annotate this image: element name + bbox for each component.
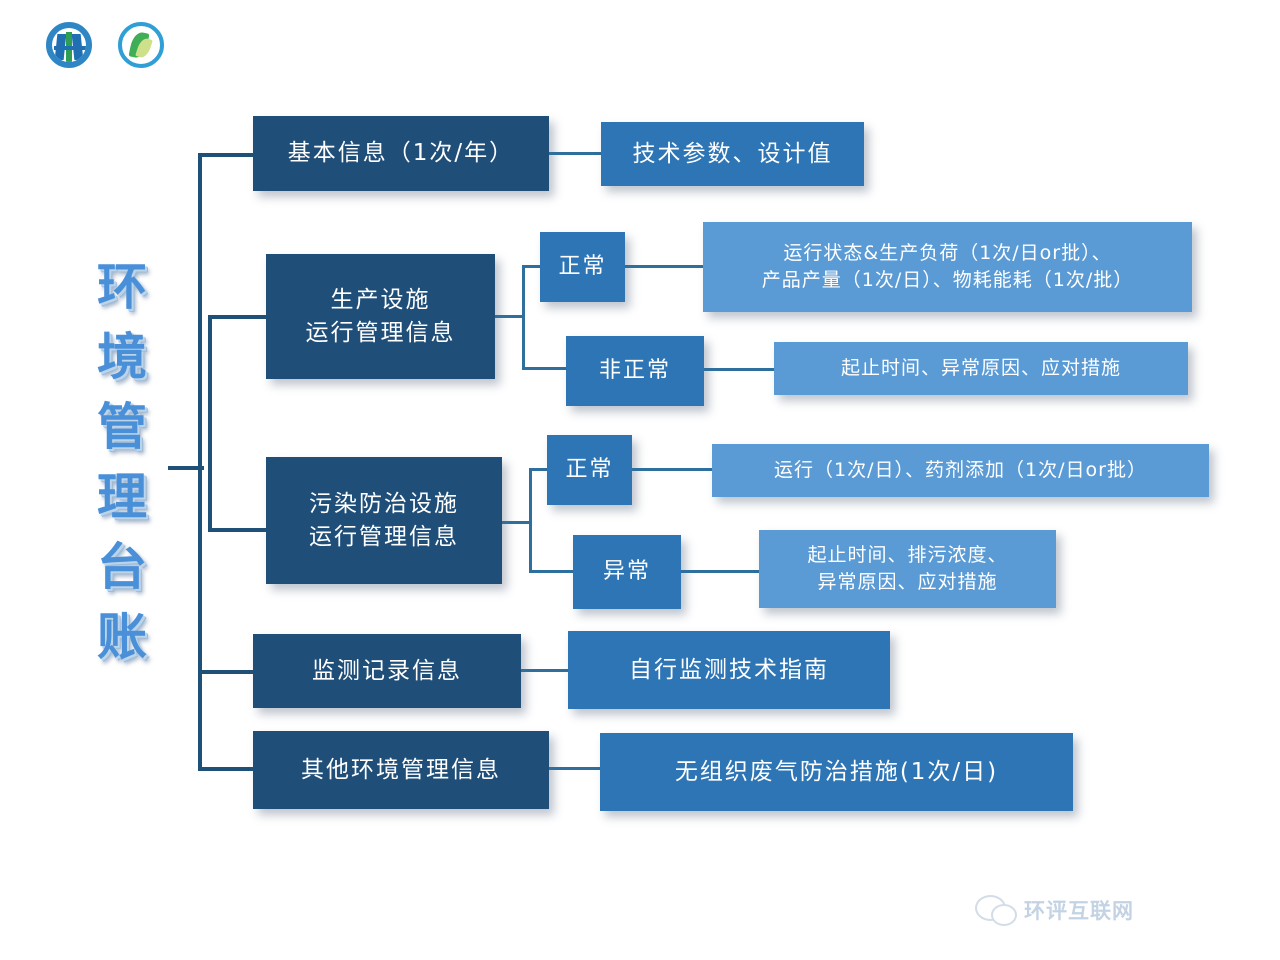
connector-branch-monitor — [198, 670, 258, 674]
connector-pollution-vsplit — [529, 468, 532, 573]
title-char-0: 环 — [97, 252, 147, 322]
connector-production-vsplit — [522, 265, 525, 370]
category-box-production[interactable]: 生产设施 运行管理信息 — [266, 254, 495, 379]
connector-pollution-normal-to-detail — [632, 468, 714, 471]
title-char-5: 账 — [97, 602, 147, 672]
detail-box-other-0[interactable]: 无组织废气防治措施(1次/日) — [600, 733, 1073, 811]
detail-box-pollution-normal[interactable]: 运行（1次/日）、药剂添加（1次/日or批） — [712, 444, 1209, 497]
connector-branch-pollution-riser — [208, 466, 212, 532]
connector-production-to-abnormal — [522, 367, 566, 370]
detail-line-1: 异常原因、应对措施 — [817, 569, 997, 596]
connector-pollution-to-abnormal — [529, 570, 573, 573]
detail-line-0: 运行状态&生产负荷（1次/日or批）、 — [783, 240, 1111, 267]
connector-other-to-detail — [549, 767, 601, 770]
connector-branch-pollution — [208, 528, 268, 532]
connector-branch-production — [208, 315, 268, 319]
connector-production-abnormal-to-detail — [704, 368, 776, 371]
category-box-other[interactable]: 其他环境管理信息 — [253, 731, 549, 809]
state-box-production-abnormal[interactable]: 非正常 — [566, 336, 704, 406]
connector-production-to-normal — [522, 265, 540, 268]
detail-line-1: 产品产量（1次/日）、物耗能耗（1次/批） — [762, 267, 1133, 294]
category-box-pollution[interactable]: 污染防治设施 运行管理信息 — [266, 457, 502, 584]
connector-pollution-out — [502, 521, 532, 524]
connector-pollution-to-normal — [529, 468, 547, 471]
category-line-1: 运行管理信息 — [309, 521, 459, 554]
diagram-canvas: 环 境 管 理 台 账 基本信息（1次/年） 技术参数、设计值 生产设施 运行管… — [0, 0, 1280, 960]
title-char-3: 理 — [97, 462, 147, 532]
connector-production-out — [495, 315, 525, 318]
state-box-production-normal[interactable]: 正常 — [540, 232, 625, 302]
title-char-2: 管 — [97, 392, 147, 462]
title-char-1: 境 — [97, 322, 147, 392]
category-box-monitor[interactable]: 监测记录信息 — [253, 634, 521, 708]
detail-box-basic-0[interactable]: 技术参数、设计值 — [601, 122, 864, 186]
category-box-basic[interactable]: 基本信息（1次/年） — [253, 116, 549, 191]
detail-box-production-normal[interactable]: 运行状态&生产负荷（1次/日or批）、 产品产量（1次/日）、物耗能耗（1次/批… — [703, 222, 1192, 312]
detail-line-0: 起止时间、排污浓度、 — [807, 542, 1007, 569]
wechat-watermark: 环评互联网 — [975, 888, 1235, 932]
connector-branch-basic — [198, 153, 258, 157]
detail-box-pollution-abnormal[interactable]: 起止时间、排污浓度、 异常原因、应对措施 — [759, 530, 1056, 608]
detail-box-monitor-0[interactable]: 自行监测技术指南 — [568, 631, 890, 709]
connector-trunk — [198, 153, 202, 771]
huanjing-logo — [46, 22, 92, 68]
detail-box-production-abnormal[interactable]: 起止时间、异常原因、应对措施 — [774, 342, 1188, 395]
state-box-pollution-normal[interactable]: 正常 — [547, 435, 632, 505]
green-leaf-logo — [118, 22, 164, 68]
connector-basic-to-detail — [549, 152, 601, 155]
connector-branch-production-riser — [208, 315, 212, 470]
title-char-4: 台 — [97, 532, 147, 602]
category-line-0: 污染防治设施 — [309, 488, 459, 521]
category-line-0: 生产设施 — [331, 284, 431, 317]
connector-pollution-abnormal-to-detail — [681, 570, 761, 573]
category-line-1: 运行管理信息 — [306, 317, 456, 350]
page-title: 环 境 管 理 台 账 — [78, 252, 166, 672]
connector-production-normal-to-detail — [625, 265, 705, 268]
connector-monitor-to-detail — [521, 669, 571, 672]
watermark-text: 环评互联网 — [1024, 895, 1134, 925]
wechat-icon — [975, 895, 1015, 925]
connector-branch-other — [198, 767, 258, 771]
state-box-pollution-abnormal[interactable]: 异常 — [573, 535, 681, 609]
